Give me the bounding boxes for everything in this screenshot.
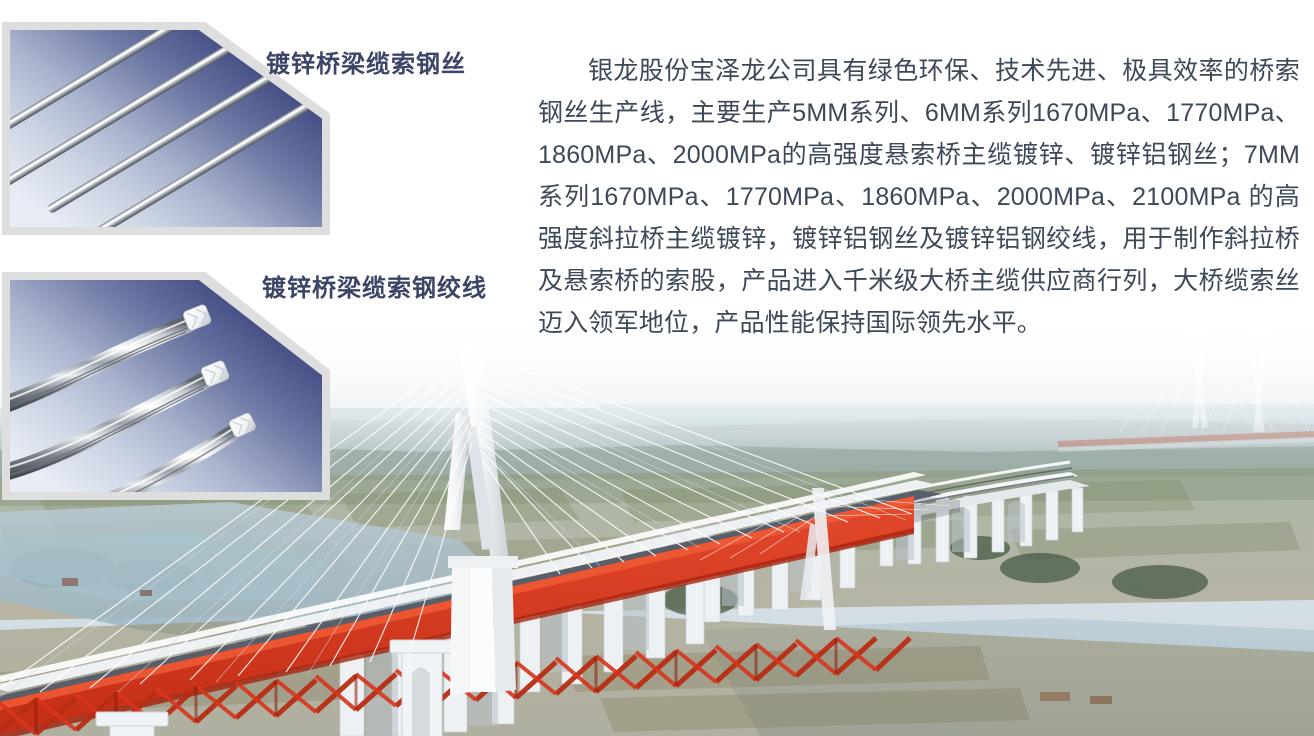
panel-inner (10, 280, 322, 492)
panel-label-strand: 镀锌桥梁缆索钢绞线 (262, 268, 487, 303)
panel-label-wire: 镀锌桥梁缆索钢丝 (266, 44, 466, 79)
steel-strand-icon (10, 280, 322, 492)
description-paragraph: 银龙股份宝泽龙公司具有绿色环保、技术先进、极具效率的桥索钢丝生产线，主要生产5M… (538, 50, 1300, 344)
product-panel-strand (2, 272, 330, 500)
slide-canvas: 镀锌桥梁缆索钢丝 (0, 0, 1314, 736)
